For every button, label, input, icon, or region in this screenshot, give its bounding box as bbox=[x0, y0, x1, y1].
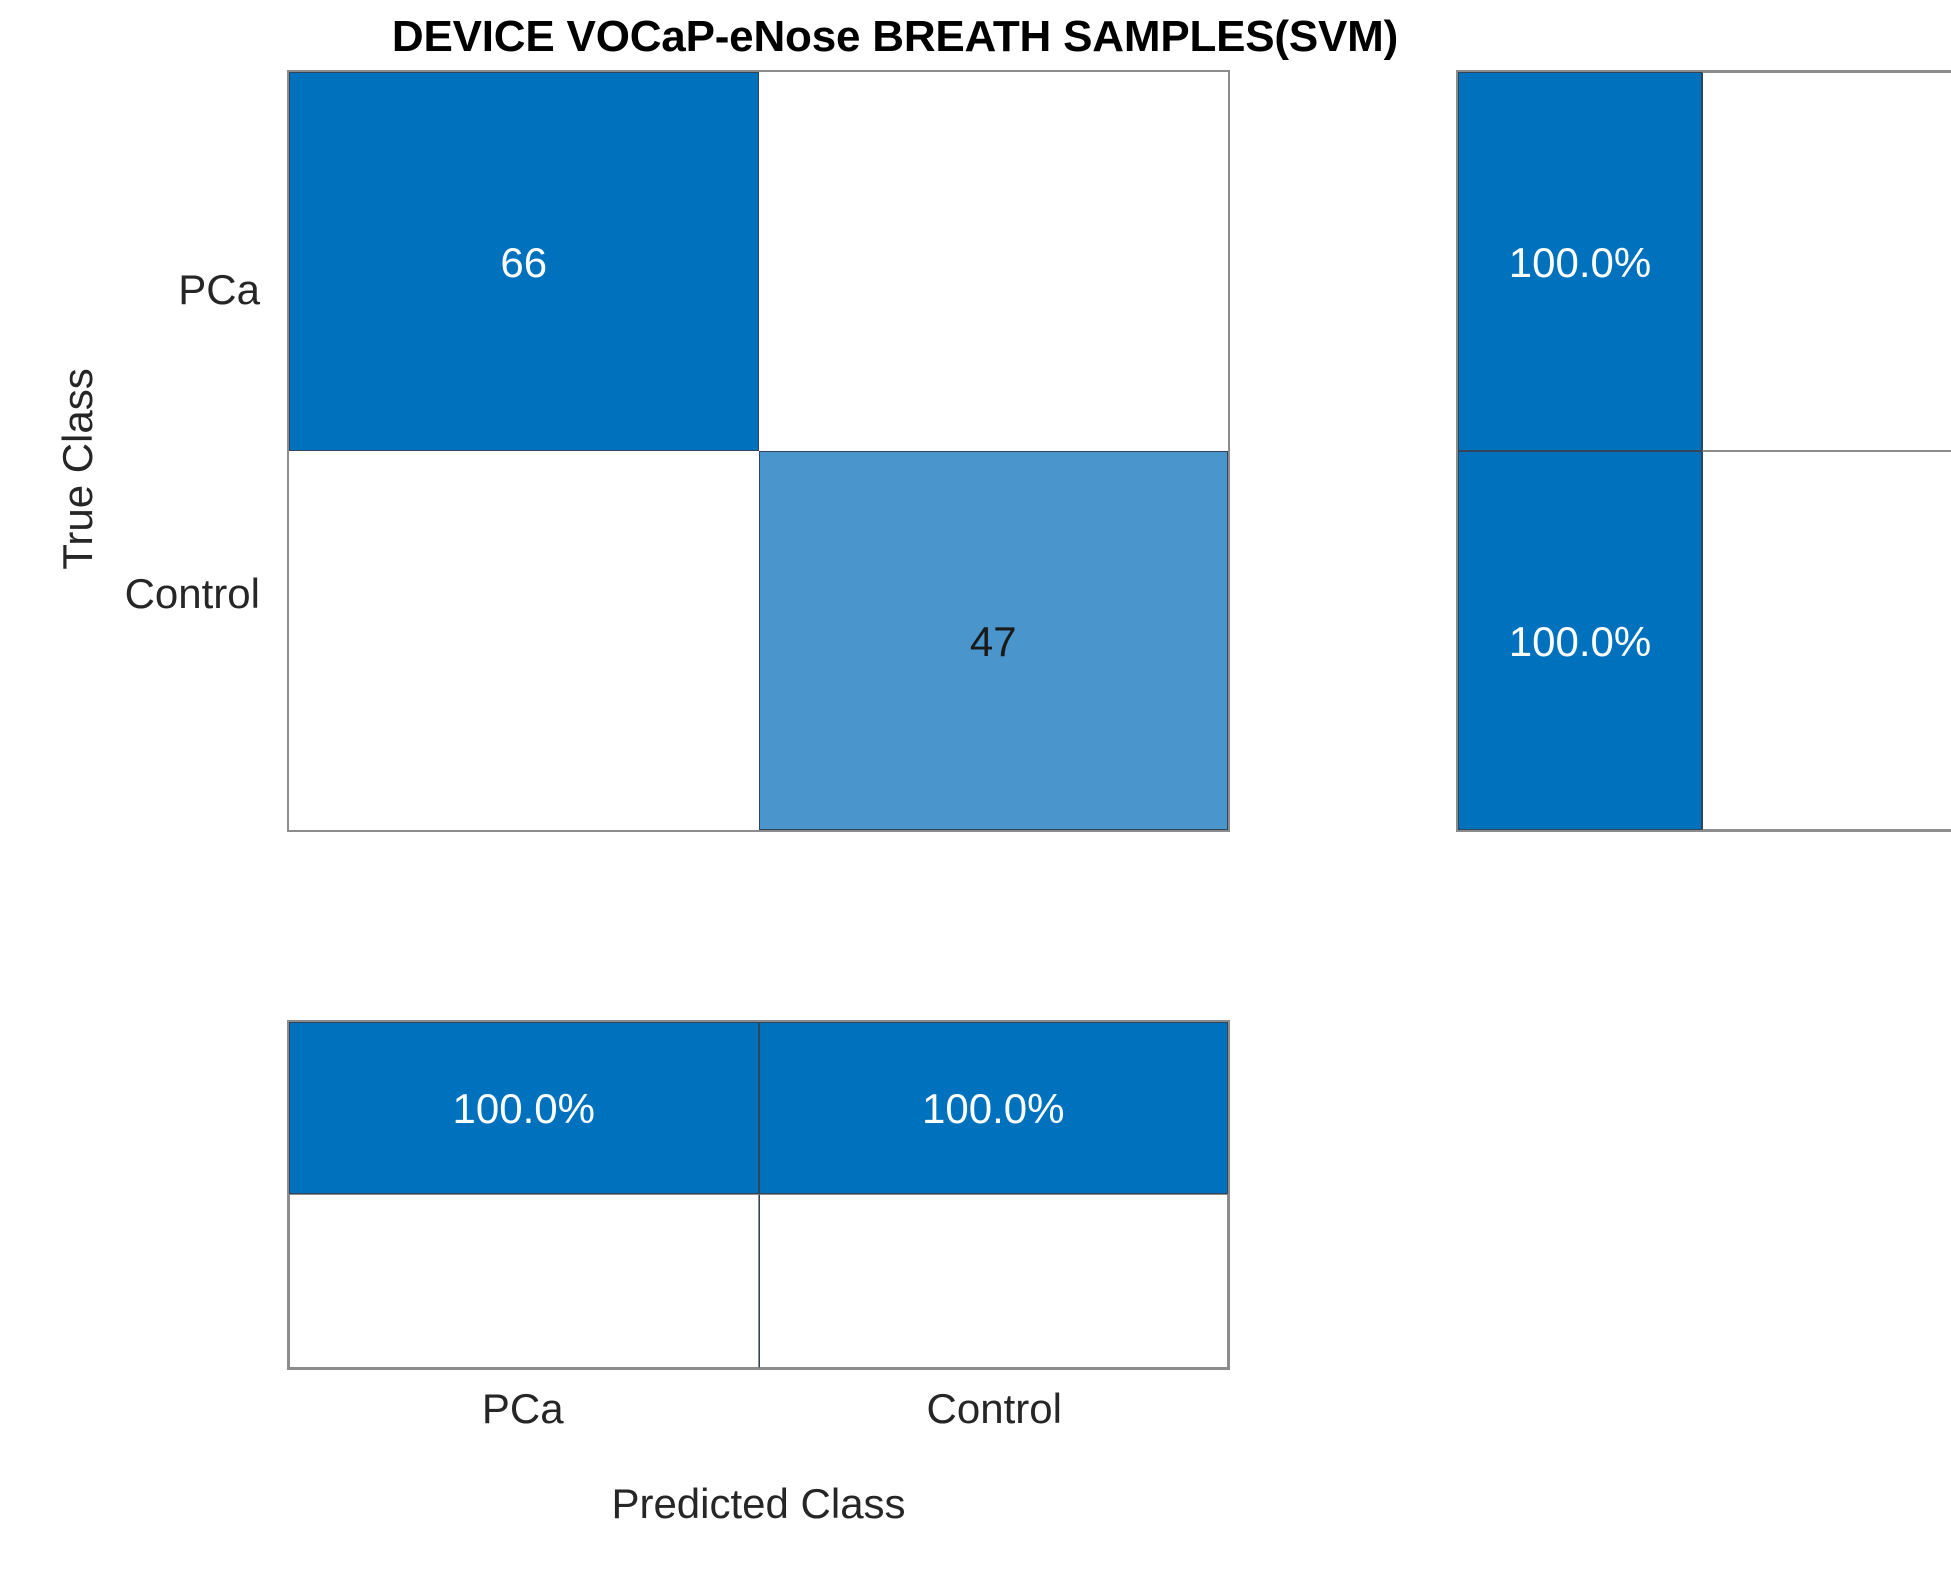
row-tick-label-control: Control bbox=[10, 570, 260, 618]
column-tick-labels: PCa Control bbox=[287, 1385, 1230, 1433]
column-percentage-strip: 100.0% 100.0% bbox=[287, 1020, 1230, 1370]
page-title: DEVICE VOCaP-eNose BREATH SAMPLES(SVM) bbox=[0, 12, 1790, 62]
row-percentage-value: 100.0% bbox=[1509, 240, 1651, 284]
x-axis-title: Predicted Class bbox=[287, 1480, 1230, 1528]
matrix-cell-pca-control[interactable] bbox=[759, 72, 1229, 451]
column-percentage-cell-pca[interactable]: 100.0% bbox=[289, 1022, 759, 1194]
column-percentage-value: 100.0% bbox=[922, 1086, 1064, 1130]
column-tick-label-pca: PCa bbox=[287, 1385, 759, 1433]
matrix-cell-control-pca[interactable] bbox=[289, 451, 759, 830]
matrix-cell-pca-pca[interactable]: 66 bbox=[289, 72, 759, 451]
matrix-cell-control-control[interactable]: 47 bbox=[759, 451, 1229, 830]
row-percentage-strip: 100.0% 100.0% bbox=[1456, 70, 1951, 832]
column-percentage-value: 100.0% bbox=[453, 1086, 595, 1130]
matrix-cell-value: 47 bbox=[970, 619, 1017, 663]
column-percentage-spacer-pca bbox=[289, 1194, 759, 1368]
column-tick-label-control: Control bbox=[759, 1385, 1231, 1433]
row-tick-label-pca: PCa bbox=[10, 266, 260, 314]
column-percentage-cell-control[interactable]: 100.0% bbox=[759, 1022, 1229, 1194]
column-percentage-spacer-control bbox=[759, 1194, 1229, 1368]
row-percentage-cell-pca[interactable]: 100.0% bbox=[1458, 72, 1702, 451]
confusion-matrix: 66 47 bbox=[287, 70, 1230, 832]
row-percentage-spacer-pca bbox=[1702, 72, 1951, 451]
row-tick-labels: PCa Control bbox=[10, 70, 260, 832]
row-percentage-spacer-control bbox=[1702, 451, 1951, 830]
row-percentage-value: 100.0% bbox=[1509, 619, 1651, 663]
row-percentage-cell-control[interactable]: 100.0% bbox=[1458, 451, 1702, 830]
matrix-cell-value: 66 bbox=[500, 240, 547, 284]
